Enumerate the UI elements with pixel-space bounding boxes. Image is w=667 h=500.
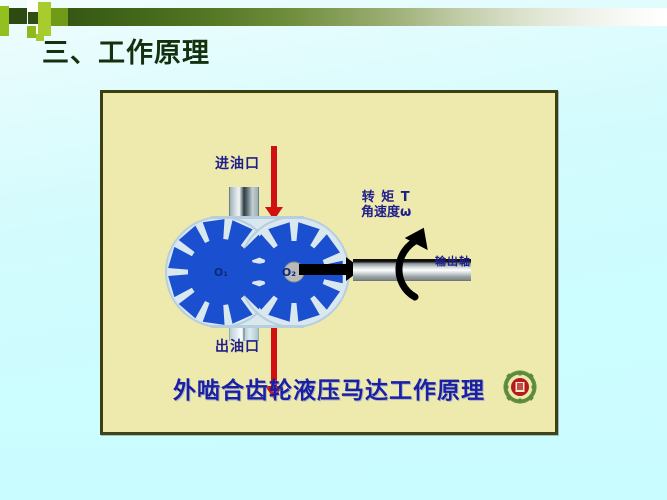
decor-square-5 — [38, 2, 51, 36]
university-seal-icon — [503, 370, 537, 404]
background-bottom-fade — [0, 430, 667, 500]
diagram-canvas: 进油口 出油口 — [103, 93, 555, 432]
torque-line-2: 角速度ω — [361, 206, 411, 221]
decor-square-3 — [27, 0, 38, 12]
header-decoration-band — [0, 0, 667, 34]
decor-square-6 — [27, 26, 36, 38]
diagram-caption: 外啮合齿轮液压马达工作原理 — [103, 371, 555, 405]
gear-right-center-label: O₂ — [282, 266, 296, 279]
gear-left-center-label: O₁ — [214, 266, 228, 279]
decor-square-2 — [9, 8, 27, 24]
diagram-frame: 进油口 出油口 — [100, 90, 558, 435]
slide-root: 三、工作原理 进油口 出油口 — [0, 0, 667, 500]
page-title: 三、工作原理 — [42, 40, 210, 67]
header-gradient-bar — [28, 8, 667, 26]
outlet-label: 出油口 — [215, 339, 260, 355]
decor-square-1 — [0, 6, 9, 36]
inlet-label: 进油口 — [215, 156, 260, 172]
decor-square-7 — [51, 8, 68, 26]
output-shaft-label: 输出轴 — [435, 256, 471, 269]
inlet-flow-arrow-icon — [271, 146, 277, 208]
torque-line-1: 转 矩 T — [361, 191, 411, 206]
torque-label: 转 矩 T 角速度ω — [361, 191, 411, 221]
